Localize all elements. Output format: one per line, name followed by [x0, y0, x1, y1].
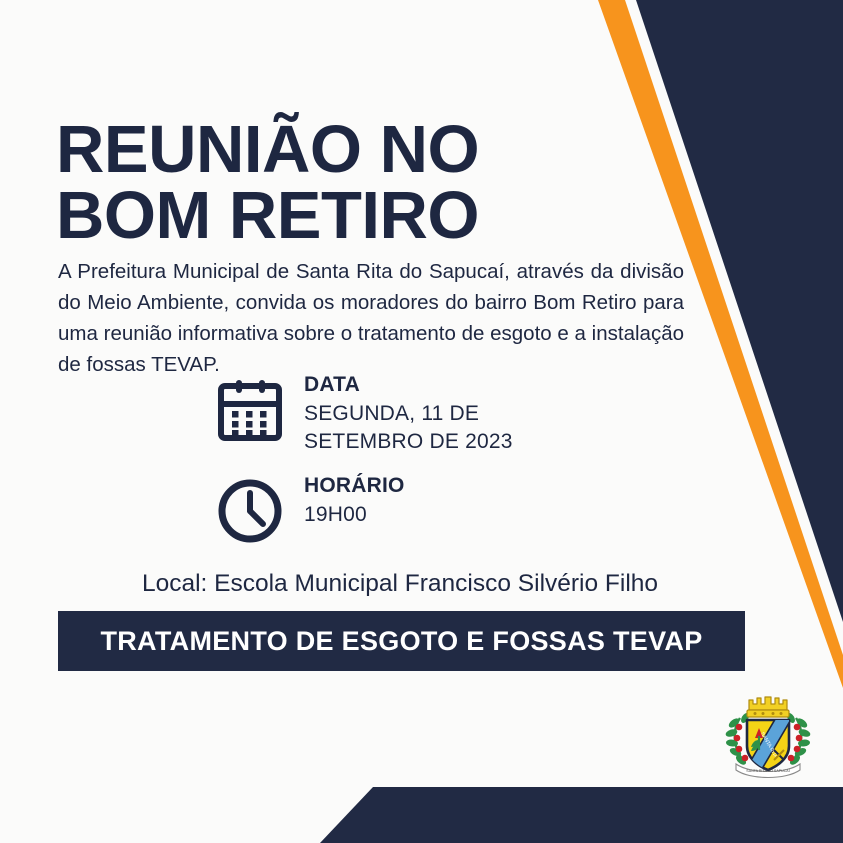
highlight-banner: TRATAMENTO DE ESGOTO E FOSSAS TEVAP: [58, 611, 745, 671]
detail-row-time: HORÁRIO 19H00: [216, 473, 646, 545]
detail-text-time: HORÁRIO 19H00: [294, 473, 646, 529]
highlight-banner-text: TRATAMENTO DE ESGOTO E FOSSAS TEVAP: [100, 626, 702, 657]
detail-text-date: DATA SEGUNDA, 11 DE SETEMBRO DE 2023: [294, 372, 646, 455]
coat-of-arms-icon: SANTA RITA SANTA RITA DO SAPUCAÍ: [718, 690, 818, 782]
crest-motto: SANTA RITA DO SAPUCAÍ: [746, 769, 789, 773]
poster-canvas: REUNIÃO NO BOM RETIRO A Prefeitura Munic…: [0, 0, 843, 843]
mural-crown-icon: [747, 697, 789, 717]
detail-value-date-line1: SEGUNDA, 11 DE: [304, 400, 646, 427]
clock-icon: [216, 473, 294, 545]
detail-label-time: HORÁRIO: [304, 473, 646, 499]
bottom-navy-band: [320, 787, 843, 843]
detail-label-date: DATA: [304, 372, 646, 398]
title-line-1: REUNIÃO NO: [56, 112, 479, 187]
calendar-icon: [216, 372, 294, 444]
location-line: Local: Escola Municipal Francisco Silvér…: [0, 570, 800, 598]
title-line-2: BOM RETIRO: [56, 183, 576, 249]
event-details: DATA SEGUNDA, 11 DE SETEMBRO DE 2023 HOR…: [216, 372, 646, 563]
detail-value-time-line1: 19H00: [304, 501, 646, 528]
detail-row-date: DATA SEGUNDA, 11 DE SETEMBRO DE 2023: [216, 372, 646, 455]
detail-value-date-line2: SETEMBRO DE 2023: [304, 428, 646, 455]
page-title: REUNIÃO NO BOM RETIRO: [56, 117, 576, 248]
body-paragraph: A Prefeitura Municipal de Santa Rita do …: [58, 256, 684, 381]
